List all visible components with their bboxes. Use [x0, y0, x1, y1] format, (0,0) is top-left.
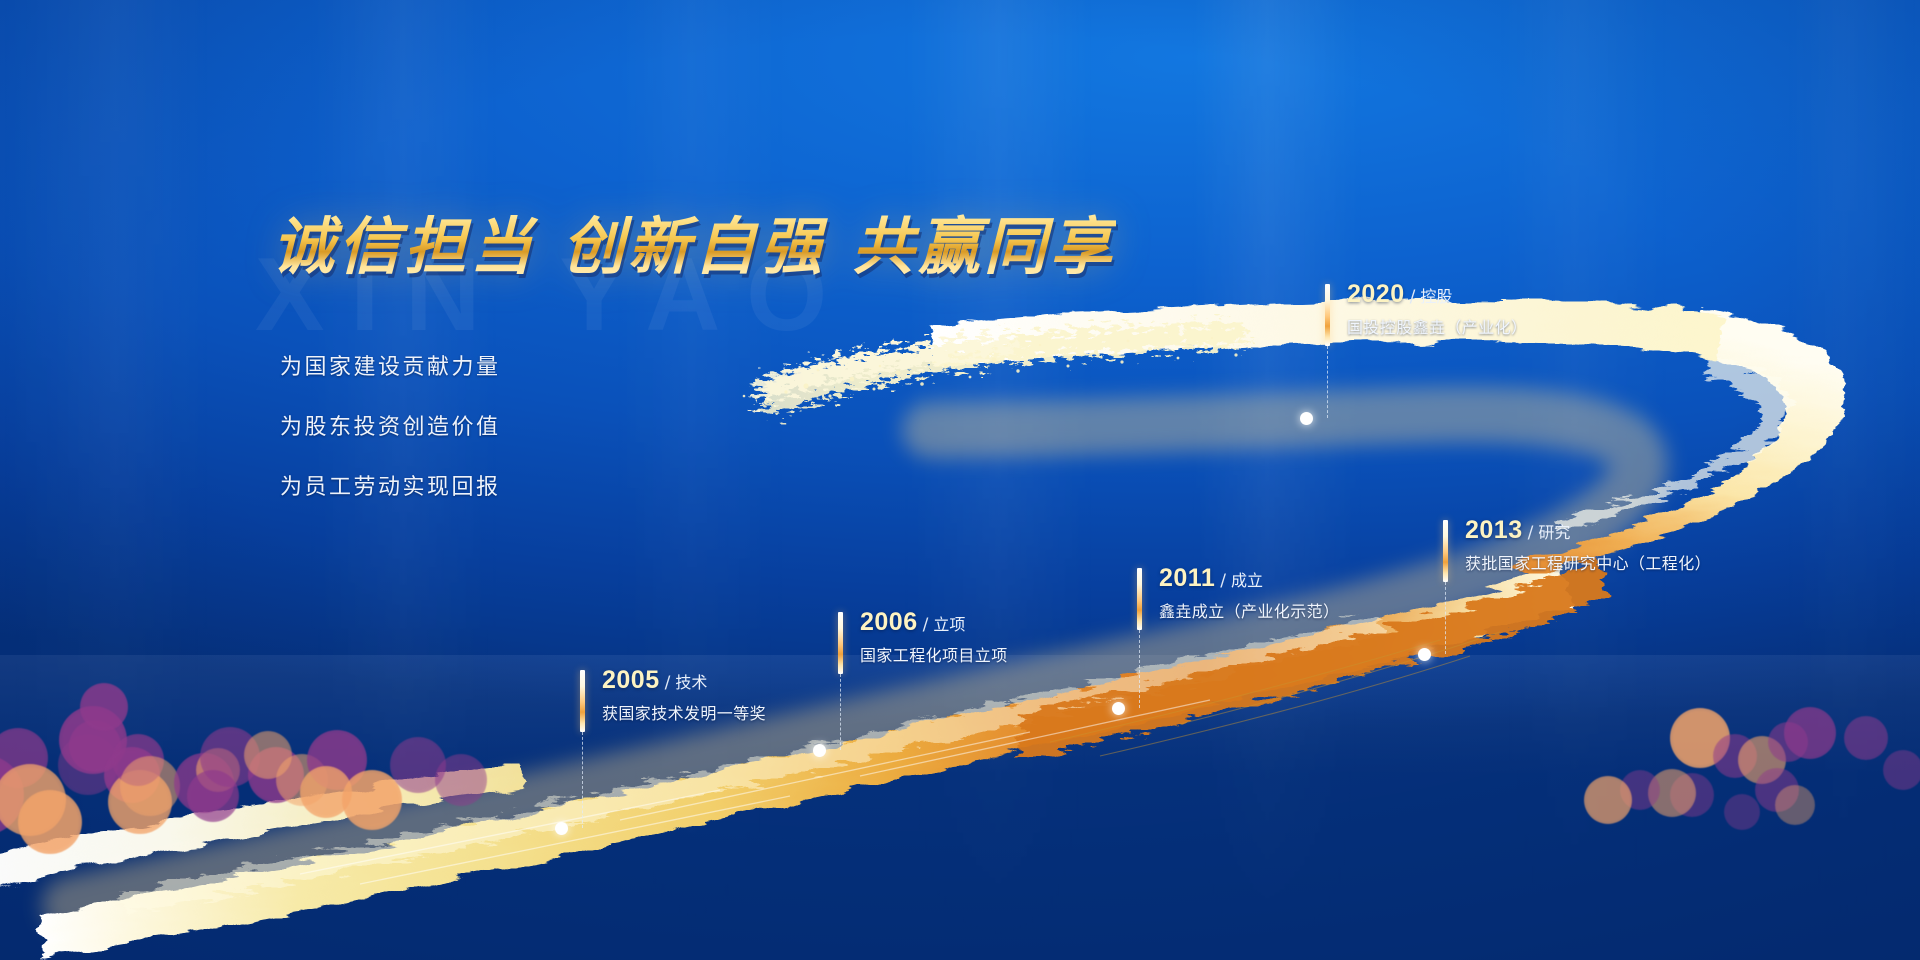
timeline-description: 国家工程化项目立项 [860, 648, 1008, 664]
timeline-accent-bar [1325, 284, 1330, 346]
timeline-leader-line [1445, 582, 1446, 654]
timeline-headline: 2020/控股 [1347, 282, 1527, 307]
timeline-description: 获国家技术发明一等奖 [602, 706, 766, 722]
timeline-label: 2011/成立鑫垚成立（产业化示范） [1159, 566, 1339, 620]
timeline-description: 获批国家工程研究中心（工程化） [1465, 556, 1711, 572]
bokeh-circle [1844, 716, 1888, 760]
timeline-category: 技术 [675, 673, 707, 692]
timeline-accent-bar [1443, 520, 1448, 582]
timeline-year: 2005 [602, 666, 660, 694]
bokeh-circle [1584, 776, 1632, 824]
timeline-leader-line [840, 674, 841, 750]
timeline-headline: 2013/研究 [1465, 518, 1711, 543]
slogan-line: 为股东投资创造价值 [280, 417, 501, 439]
timeline-headline: 2011/成立 [1159, 566, 1339, 591]
timeline-headline: 2006/立项 [860, 610, 1008, 635]
banner-stage: XIN YAO [0, 0, 1920, 960]
timeline-leader-line [1139, 630, 1140, 708]
timeline-leader-line [582, 732, 583, 828]
timeline-accent-bar [838, 612, 843, 674]
timeline-year: 2020 [1347, 280, 1405, 308]
timeline-headline: 2005/技术 [602, 668, 766, 693]
bokeh-circle [435, 754, 487, 806]
timeline-year: 2011 [1159, 564, 1215, 592]
bokeh-circle [80, 683, 128, 731]
headline-part-3: 共赢同享 [852, 210, 1116, 283]
headline-part-1: 诚信担当 [272, 210, 536, 283]
timeline-category: 研究 [1538, 523, 1570, 542]
bokeh-circle [120, 756, 180, 816]
timeline-marker-dot[interactable] [1300, 412, 1313, 425]
timeline-label: 2006/立项国家工程化项目立项 [860, 610, 1008, 664]
timeline-marker-dot[interactable] [813, 744, 826, 757]
timeline-accent-bar [1137, 568, 1142, 630]
bokeh-circle [1775, 785, 1815, 825]
bokeh-circle [1724, 794, 1760, 830]
timeline-description: 国投控股鑫垚（产业化） [1347, 320, 1527, 336]
bokeh-circle [1883, 750, 1920, 790]
timeline-separator: / [1528, 523, 1534, 543]
timeline-year: 2013 [1465, 516, 1523, 544]
headline-part-2: 创新自强 [562, 210, 826, 283]
timeline-label: 2020/控股国投控股鑫垚（产业化） [1347, 282, 1527, 336]
timeline-label: 2013/研究获批国家工程研究中心（工程化） [1465, 518, 1711, 572]
slogan-line: 为国家建设贡献力量 [280, 357, 501, 379]
timeline-separator: / [1220, 571, 1226, 591]
timeline-category: 控股 [1420, 287, 1452, 306]
page-title: 诚信担当创新自强共赢同享 [272, 196, 1116, 286]
timeline-category: 成立 [1231, 571, 1263, 590]
bokeh-circle [1784, 707, 1836, 759]
timeline-label: 2005/技术获国家技术发明一等奖 [602, 668, 766, 722]
timeline-separator: / [665, 673, 671, 693]
timeline-separator: / [923, 615, 929, 635]
timeline-leader-line [1327, 346, 1328, 418]
slogan-list: 为国家建设贡献力量 为股东投资创造价值 为员工劳动实现回报 [280, 357, 501, 537]
timeline-marker-dot[interactable] [1112, 702, 1125, 715]
timeline-category: 立项 [933, 615, 965, 634]
timeline-separator: / [1410, 287, 1416, 307]
timeline-year: 2006 [860, 608, 918, 636]
timeline-marker-dot[interactable] [555, 822, 568, 835]
timeline-description: 鑫垚成立（产业化示范） [1159, 604, 1339, 620]
slogan-line: 为员工劳动实现回报 [280, 477, 501, 499]
bokeh-circle [18, 790, 82, 854]
timeline-accent-bar [580, 670, 585, 732]
timeline-marker-dot[interactable] [1418, 648, 1431, 661]
